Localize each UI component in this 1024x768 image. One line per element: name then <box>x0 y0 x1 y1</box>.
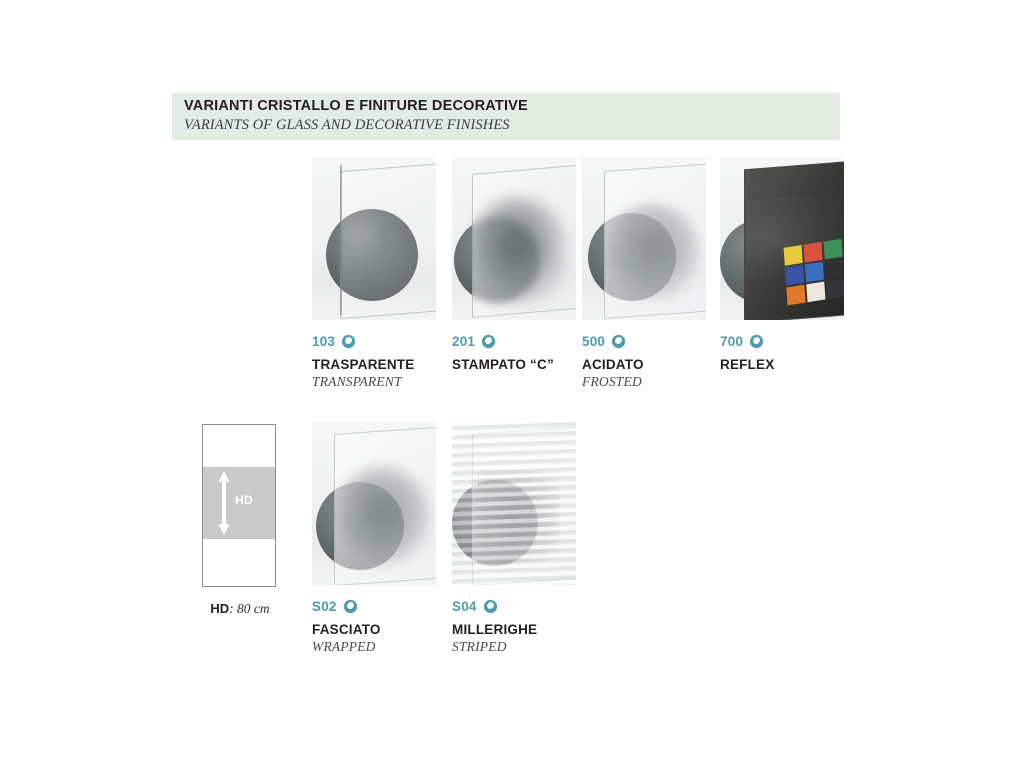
finish-card-700[interactable]: 700 REFLEX <box>720 157 844 374</box>
swatch <box>805 262 824 283</box>
swatch <box>784 245 803 266</box>
finish-code: 700 <box>720 334 743 349</box>
page-subtitle: VARIANTS OF GLASS AND DECORATIVE FINISHE… <box>184 117 510 134</box>
wrapped-sphere-overlay <box>338 466 430 566</box>
finish-code: 103 <box>312 334 335 349</box>
hd-caption: HD: 80 cm <box>202 601 278 617</box>
finish-caption: S04 MILLERIGHE STRIPED <box>452 597 576 655</box>
finish-caption: 500 ACIDATO FROSTED <box>582 332 706 390</box>
finish-card-103[interactable]: 103 TRASPARENTE TRANSPARENT <box>312 157 436 390</box>
swatch <box>786 285 805 306</box>
glass-sample-icon <box>343 599 358 614</box>
finish-name-en: FROSTED <box>582 374 706 390</box>
finish-name-it: TRASPARENTE <box>312 357 436 372</box>
finish-name-en: STRIPED <box>452 639 576 655</box>
glass-pane-edge <box>340 165 342 315</box>
glass-pane <box>340 163 436 319</box>
swatch <box>826 278 844 299</box>
fluted-glass-stripes <box>452 422 576 585</box>
finish-name-it: FASCIATO <box>312 622 436 637</box>
hd-double-arrow-icon <box>217 471 231 535</box>
finish-name-it: REFLEX <box>720 357 844 372</box>
glass-sample-icon <box>749 334 764 349</box>
glass-sample-icon <box>483 599 498 614</box>
finish-card-500[interactable]: 500 ACIDATO FROSTED <box>582 157 706 390</box>
finish-caption: 700 REFLEX <box>720 332 844 372</box>
finish-code: S04 <box>452 599 477 614</box>
swatch <box>823 239 842 260</box>
swatch <box>804 242 823 263</box>
finish-name-en: TRANSPARENT <box>312 374 436 390</box>
finish-code-line: 103 <box>312 332 436 350</box>
finish-name-it: ACIDATO <box>582 357 706 372</box>
finish-photo-reflex <box>720 157 844 320</box>
finish-name-it: MILLERIGHE <box>452 622 576 637</box>
finish-name-en: WRAPPED <box>312 639 436 655</box>
swatch <box>785 265 804 286</box>
finish-card-201[interactable]: 201 STAMPATO “C” <box>452 157 576 374</box>
frosted-sphere-overlay <box>606 203 700 301</box>
finish-photo-acidato <box>582 157 706 320</box>
hd-caption-key: HD <box>210 601 229 616</box>
finish-caption: 103 TRASPARENTE TRANSPARENT <box>312 332 436 390</box>
glass-sample-icon <box>341 334 356 349</box>
glass-sample-icon <box>481 334 496 349</box>
finish-code-line: 201 <box>452 332 576 350</box>
finish-photo-millerighe <box>452 422 576 585</box>
document-page: VARIANTI CRISTALLO E FINITURE DECORATIVE… <box>0 0 1024 768</box>
finish-card-s02[interactable]: S02 FASCIATO WRAPPED <box>312 422 436 655</box>
finish-code-line: 500 <box>582 332 706 350</box>
color-checker-swatches <box>784 239 844 319</box>
finish-photo-stampato-c <box>452 157 576 320</box>
finish-code-line: 700 <box>720 332 844 350</box>
finish-code: 201 <box>452 334 475 349</box>
hd-dimension-diagram: HD HD: 80 cm <box>202 424 278 617</box>
swatch <box>806 282 825 303</box>
finish-code: 500 <box>582 334 605 349</box>
finish-code: S02 <box>312 599 337 614</box>
section-header-band: VARIANTI CRISTALLO E FINITURE DECORATIVE… <box>172 93 840 140</box>
finish-caption: S02 FASCIATO WRAPPED <box>312 597 436 655</box>
finish-caption: 201 STAMPATO “C” <box>452 332 576 372</box>
finish-code-line: S04 <box>452 597 576 615</box>
glass-sample-icon <box>611 334 626 349</box>
finish-photo-fasciato <box>312 422 436 585</box>
finish-code-line: S02 <box>312 597 436 615</box>
hd-panel-outline: HD <box>202 424 276 587</box>
swatch <box>825 259 844 280</box>
page-title: VARIANTI CRISTALLO E FINITURE DECORATIVE <box>184 98 528 114</box>
hd-band-label: HD <box>235 493 253 507</box>
finish-card-s04[interactable]: S04 MILLERIGHE STRIPED <box>452 422 576 655</box>
finish-name-it: STAMPATO “C” <box>452 357 576 372</box>
hd-caption-value: : 80 cm <box>229 601 270 616</box>
finish-photo-transparent <box>312 157 436 320</box>
